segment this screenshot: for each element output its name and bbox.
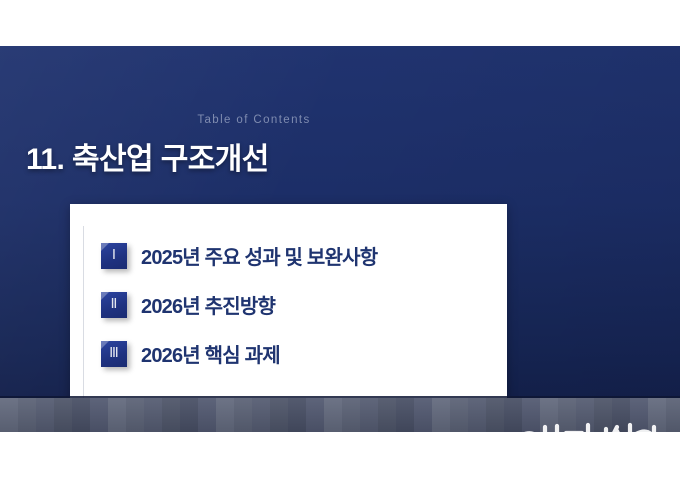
slide-title: 11. 축산업 구조개선 — [26, 134, 269, 178]
logo-subtitle: PIGPEOPLE — [589, 467, 658, 474]
table-of-contents-list: Ⅰ 2025년 주요 성과 및 보완사항 Ⅱ 2026년 추진방향 Ⅲ 2026… — [101, 231, 501, 378]
numeral-badge-label: Ⅰ — [112, 249, 116, 263]
list-item-label: 2025년 주요 성과 및 보완사항 — [141, 241, 377, 270]
numeral-badge-2: Ⅱ — [101, 292, 127, 318]
list-item-label: 2026년 추진방향 — [141, 290, 275, 319]
numeral-badge-3: Ⅲ — [101, 341, 127, 367]
list-item-label: 2026년 핵심 과제 — [141, 339, 280, 368]
numeral-badge-label: Ⅱ — [111, 298, 118, 312]
list-item[interactable]: Ⅲ 2026년 핵심 과제 — [101, 329, 501, 378]
slide-canvas: Table of Contents 11. 축산업 구조개선 Ⅰ 2025년 주… — [0, 46, 680, 432]
table-of-contents-label: Table of Contents — [0, 114, 508, 126]
list-item[interactable]: Ⅰ 2025년 주요 성과 및 보완사항 — [101, 231, 501, 280]
numeral-badge-1: Ⅰ — [101, 243, 127, 269]
numeral-badge-label: Ⅲ — [109, 347, 119, 361]
bottom-grey-band — [0, 398, 680, 432]
list-item[interactable]: Ⅱ 2026년 추진방향 — [101, 280, 501, 329]
